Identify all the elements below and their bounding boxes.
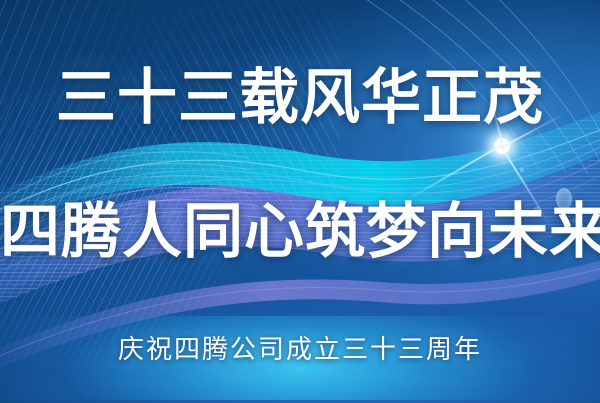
anniversary-banner: 三十三载风华正茂 四腾人同心筑梦向未来 庆祝四腾公司成立三十三周年 [0,0,600,403]
headline-line-1: 三十三载风华正茂 [0,62,600,134]
subtitle-text: 庆祝四腾公司成立三十三周年 [0,332,600,368]
headline-line-2: 四腾人同心筑梦向未来 [0,196,600,268]
